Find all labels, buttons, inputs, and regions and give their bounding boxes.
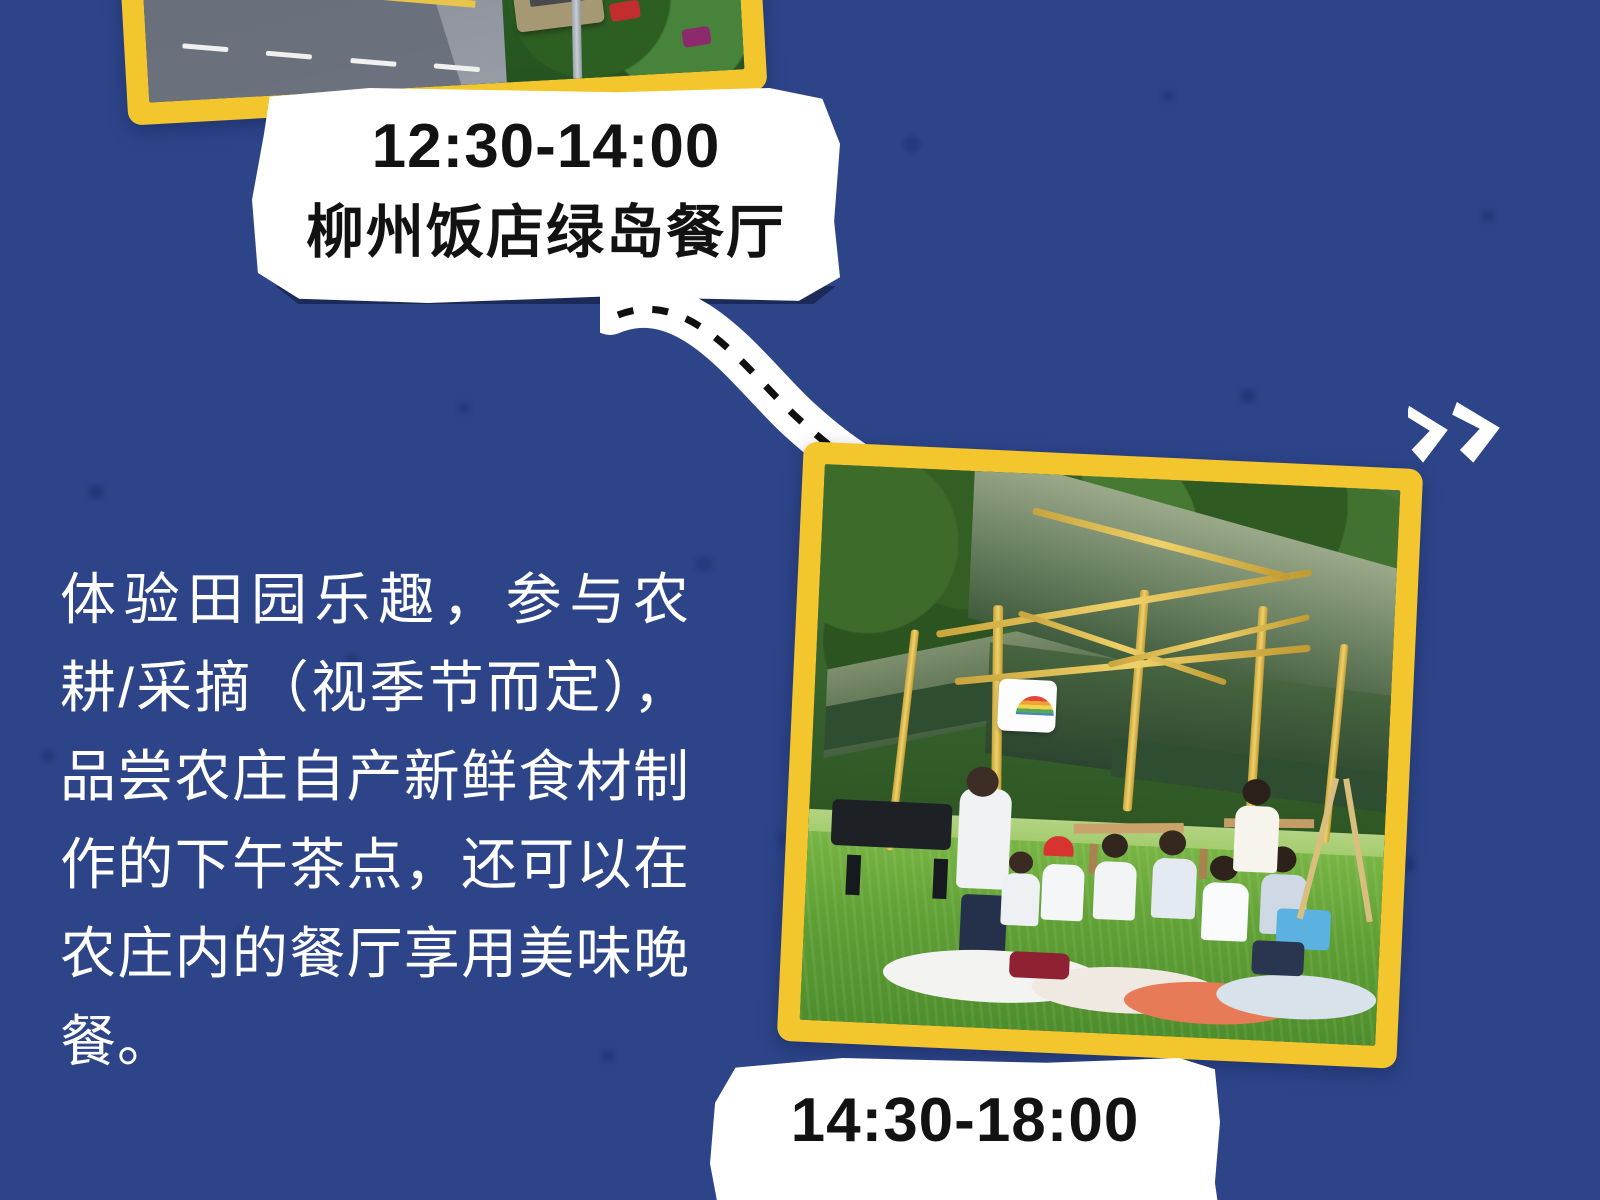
schedule-time-lunch: 12:30-14:00 xyxy=(252,88,840,179)
double-chevron-right-icon xyxy=(1408,398,1518,468)
photo-street-image xyxy=(136,0,745,102)
schedule-card-lunch[interactable]: 12:30-14:00 柳州饭店绿岛餐厅 xyxy=(252,88,840,303)
schedule-time-afternoon: 14:30-18:00 xyxy=(710,1058,1220,1153)
schedule-card-afternoon[interactable]: 14:30-18:00 xyxy=(710,1058,1220,1200)
schedule-place-afternoon xyxy=(710,1153,1220,1175)
photo-picnic-frame[interactable] xyxy=(777,441,1424,1069)
poster-canvas: 12:30-14:00 柳州饭店绿岛餐厅 体验田园乐趣，参与农耕/采摘（视季节而… xyxy=(0,0,1600,1200)
schedule-place-lunch: 柳州饭店绿岛餐厅 xyxy=(252,179,840,264)
activity-description: 体验田园乐趣，参与农耕/采摘（视季节而定），品尝农庄自产新鲜食材制作的下午茶点，… xyxy=(60,556,690,1087)
photo-picnic-image xyxy=(800,464,1401,1046)
